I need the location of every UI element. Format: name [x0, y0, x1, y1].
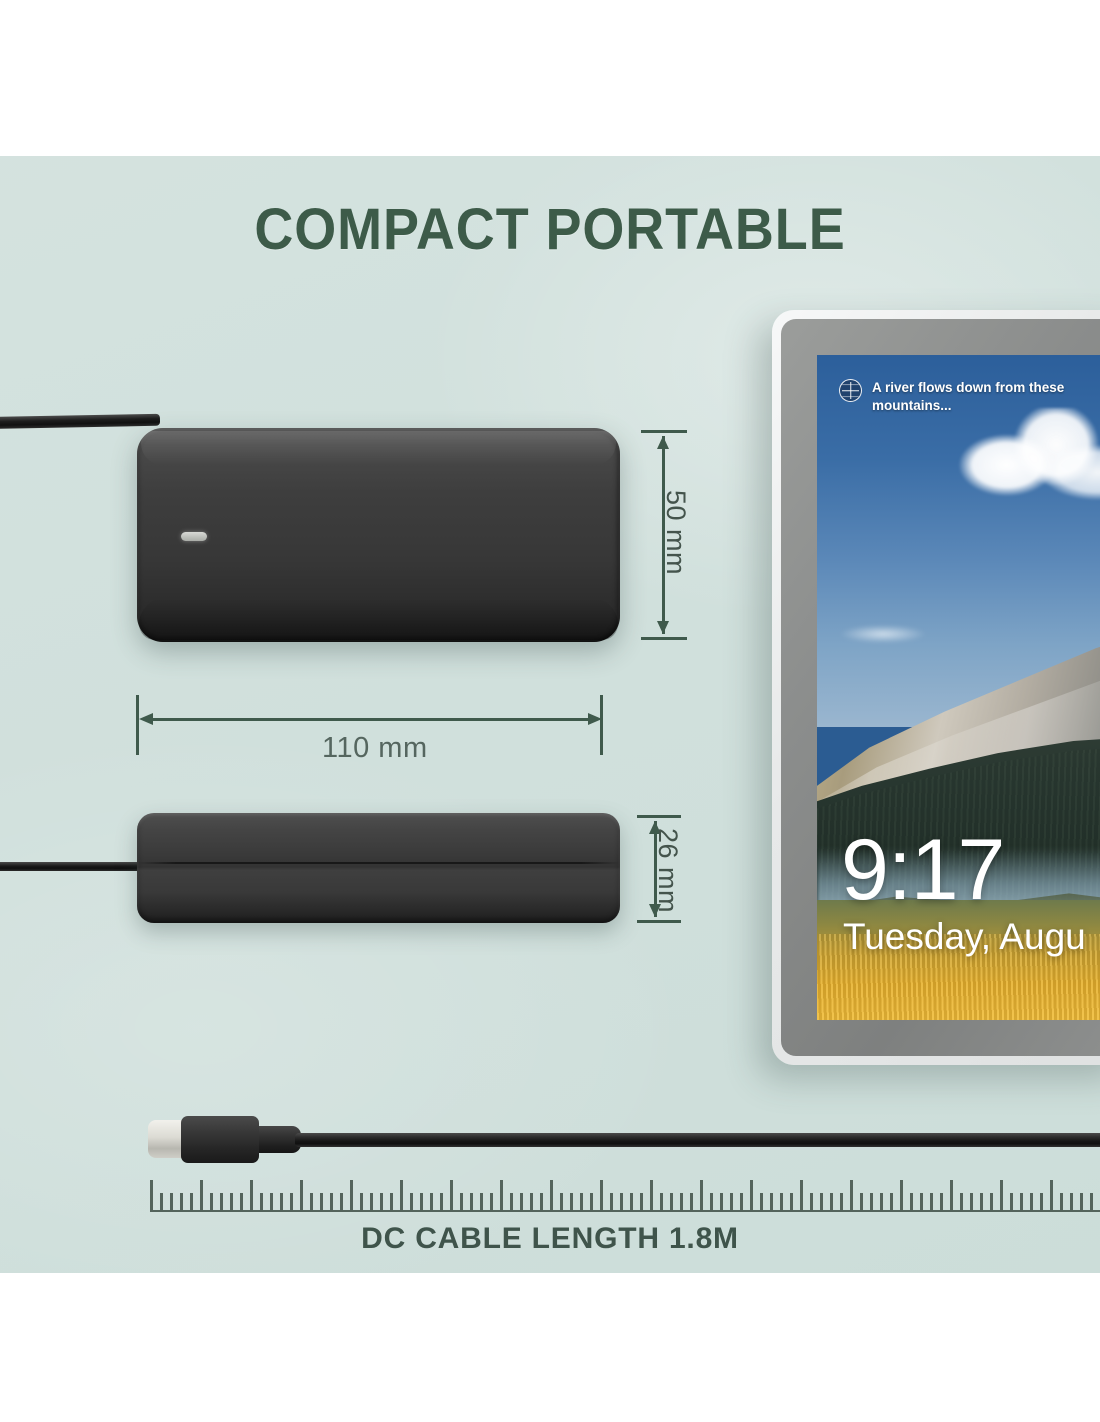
ruler-tick: [400, 1180, 403, 1210]
ruler-tick: [220, 1193, 223, 1210]
dimension-tick-width-left: [136, 695, 139, 755]
ruler-tick: [430, 1193, 433, 1210]
ruler-tick: [390, 1193, 393, 1210]
ruler-tick: [1050, 1180, 1053, 1210]
ruler-tick: [560, 1193, 563, 1210]
wallpaper-cloud: [946, 408, 1100, 500]
ruler-tick: [820, 1193, 823, 1210]
spotlight-notice[interactable]: A river flows down from these mountains.…: [839, 379, 1077, 415]
ruler-tick: [410, 1193, 413, 1210]
ruler-tick: [780, 1193, 783, 1210]
ruler-tick: [180, 1193, 183, 1210]
ruler-tick: [490, 1193, 493, 1210]
globe-icon: [839, 379, 862, 402]
ruler-tick: [1090, 1193, 1093, 1210]
measuring-ruler: [150, 1178, 1100, 1212]
ruler-tick: [810, 1193, 813, 1210]
ruler-tick: [330, 1193, 333, 1210]
ruler-tick: [620, 1193, 623, 1210]
ruler-tick: [990, 1193, 993, 1210]
ruler-tick: [290, 1193, 293, 1210]
ruler-tick: [860, 1193, 863, 1210]
ruler-tick: [350, 1180, 353, 1210]
ruler-tick: [910, 1193, 913, 1210]
dimension-label-thickness: 26 mm: [652, 828, 683, 913]
ruler-tick: [610, 1193, 613, 1210]
wallpaper-cloud-small: [823, 621, 943, 647]
ruler-tick: [940, 1193, 943, 1210]
ruler-tick: [260, 1193, 263, 1210]
power-adapter-top-view: [137, 428, 620, 642]
page-title: COMPACT PORTABLE: [39, 196, 1062, 263]
ruler-tick: [730, 1193, 733, 1210]
ruler-tick: [700, 1180, 703, 1210]
dimension-tick-height-top: [641, 430, 687, 433]
ruler-tick: [230, 1193, 233, 1210]
ruler-tick: [590, 1193, 593, 1210]
ruler-tick: [380, 1193, 383, 1210]
dimension-label-width: 110 mm: [322, 732, 428, 765]
ruler-tick: [240, 1193, 243, 1210]
ruler-tick: [580, 1193, 583, 1210]
dimension-line-width: [147, 718, 594, 721]
ruler-tick: [320, 1193, 323, 1210]
ruler-tick: [800, 1180, 803, 1210]
ruler-tick: [210, 1193, 213, 1210]
lock-screen-clock: 9:17: [841, 830, 1004, 912]
ruler-tick: [370, 1193, 373, 1210]
usb-c-strain-relief: [253, 1126, 301, 1153]
ruler-tick: [670, 1193, 673, 1210]
dimension-tick-thickness-top: [637, 815, 681, 818]
ruler-tick: [280, 1193, 283, 1210]
ruler-tick: [500, 1180, 503, 1210]
ruler-tick: [710, 1193, 713, 1210]
ruler-baseline: [150, 1210, 1100, 1212]
ruler-tick: [1040, 1193, 1043, 1210]
ruler-tick: [170, 1193, 173, 1210]
ruler-tick: [740, 1193, 743, 1210]
ruler-tick: [550, 1180, 553, 1210]
dimension-label-height: 50 mm: [660, 490, 691, 575]
dc-cable: [295, 1133, 1100, 1147]
ruler-tick: [570, 1193, 573, 1210]
ruler-tick: [480, 1193, 483, 1210]
ruler-tick: [1020, 1193, 1023, 1210]
ruler-tick: [1070, 1193, 1073, 1210]
ruler-tick: [1060, 1193, 1063, 1210]
ruler-tick: [150, 1180, 153, 1210]
usb-c-connector-housing: [181, 1116, 259, 1163]
ruler-tick: [340, 1193, 343, 1210]
ruler-tick: [630, 1193, 633, 1210]
ruler-tick: [950, 1180, 953, 1210]
ruler-tick: [540, 1193, 543, 1210]
ruler-tick: [1010, 1193, 1013, 1210]
ruler-tick: [270, 1193, 273, 1210]
ruler-tick: [530, 1193, 533, 1210]
dimension-arrow-left-icon: [139, 713, 153, 725]
ruler-tick: [920, 1193, 923, 1210]
dimension-tick-thickness-bottom: [637, 920, 681, 923]
ruler-tick: [600, 1180, 603, 1210]
tablet-screen: A river flows down from these mountains.…: [817, 355, 1100, 1020]
ruler-tick: [470, 1193, 473, 1210]
ruler-tick: [960, 1193, 963, 1210]
dimension-tick-width-right: [600, 695, 603, 755]
tablet-device: A river flows down from these mountains.…: [772, 310, 1100, 1065]
led-indicator: [181, 532, 207, 541]
ruler-tick: [970, 1193, 973, 1210]
ruler-tick: [300, 1180, 303, 1210]
ruler-tick: [880, 1193, 883, 1210]
ruler-tick: [650, 1180, 653, 1210]
lock-screen-date: Tuesday, Augu: [843, 916, 1086, 958]
ruler-tick: [770, 1193, 773, 1210]
infographic-canvas: COMPACT PORTABLE 50 mm 110 mm 26 mm: [0, 0, 1100, 1422]
ruler-tick: [160, 1193, 163, 1210]
ruler-tick: [450, 1180, 453, 1210]
tablet-bezel: A river flows down from these mountains.…: [781, 319, 1100, 1056]
dimension-arrow-right-icon: [588, 713, 602, 725]
ruler-tick: [830, 1193, 833, 1210]
ruler-tick: [900, 1180, 903, 1210]
ruler-tick: [1000, 1180, 1003, 1210]
adapter-seam-line: [137, 862, 620, 864]
ruler-tick: [980, 1193, 983, 1210]
dimension-tick-height-bottom: [641, 637, 687, 640]
ruler-tick: [460, 1193, 463, 1210]
ruler-tick: [520, 1193, 523, 1210]
spotlight-text: A river flows down from these mountains.…: [872, 379, 1077, 415]
ruler-tick: [930, 1193, 933, 1210]
ruler-tick: [750, 1180, 753, 1210]
ruler-tick: [690, 1193, 693, 1210]
ruler-tick: [720, 1193, 723, 1210]
ruler-tick: [1080, 1193, 1083, 1210]
ruler-tick: [360, 1193, 363, 1210]
ruler-tick: [440, 1193, 443, 1210]
power-adapter-side-view: [137, 813, 620, 923]
ruler-tick: [510, 1193, 513, 1210]
ruler-tick: [420, 1193, 423, 1210]
ruler-tick: [890, 1193, 893, 1210]
ruler-tick: [1030, 1193, 1033, 1210]
ruler-tick: [660, 1193, 663, 1210]
ruler-tick: [790, 1193, 793, 1210]
ruler-tick: [840, 1193, 843, 1210]
ruler-tick: [190, 1193, 193, 1210]
ruler-tick: [640, 1193, 643, 1210]
ruler-tick: [680, 1193, 683, 1210]
ruler-tick: [850, 1180, 853, 1210]
ruler-tick: [760, 1193, 763, 1210]
ruler-tick: [310, 1193, 313, 1210]
dimension-arrow-up-icon: [657, 436, 669, 449]
dimension-arrow-down-icon: [657, 621, 669, 634]
dc-cord-side-entry: [0, 862, 150, 871]
ruler-tick: [200, 1180, 203, 1210]
ruler-tick: [870, 1193, 873, 1210]
ruler-tick: [250, 1180, 253, 1210]
cable-length-caption: DC CABLE LENGTH 1.8M: [0, 1222, 1100, 1256]
